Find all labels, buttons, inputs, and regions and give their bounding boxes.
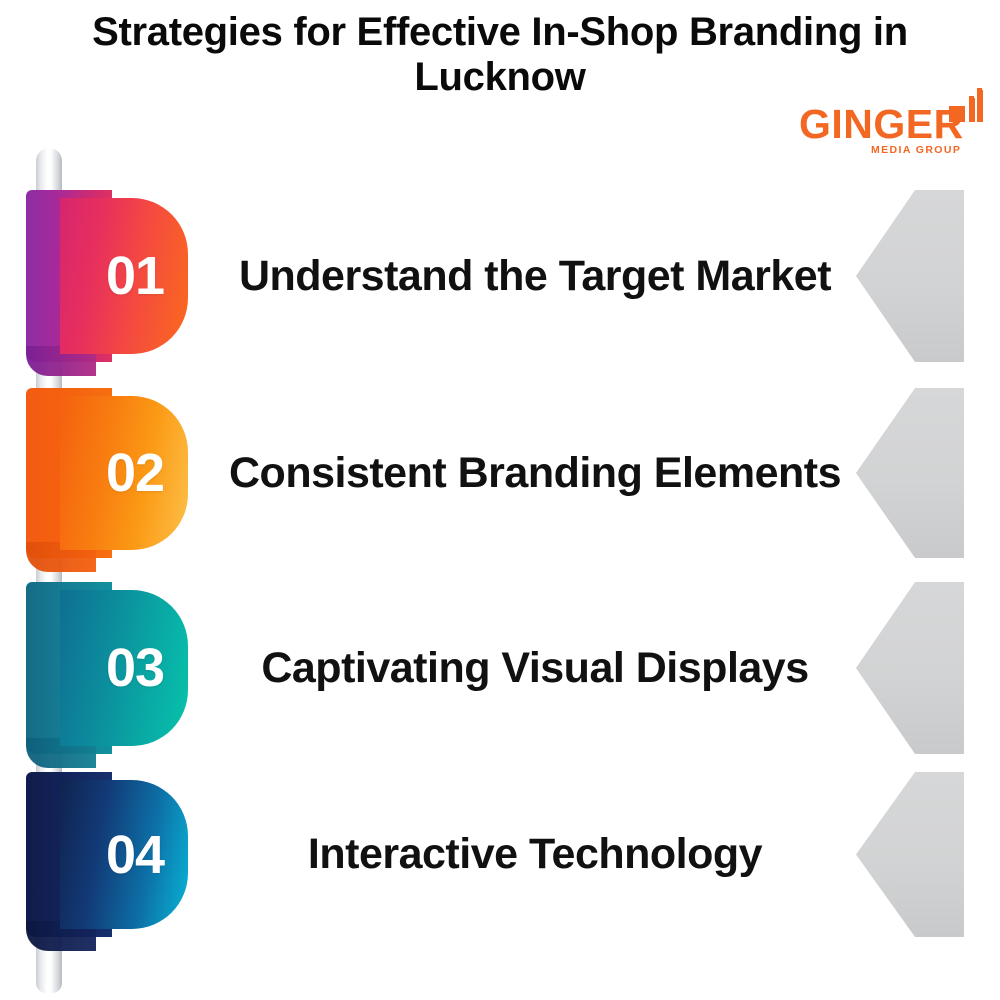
infographic-page: Strategies for Effective In-Shop Brandin…: [0, 0, 1000, 1000]
step-label-1: Understand the Target Market: [205, 190, 865, 362]
step-row-3[interactable]: 03 Captivating Visual Displays: [0, 582, 1000, 754]
step-badge-4: 04: [60, 780, 188, 929]
step-badge-2: 02: [60, 396, 188, 550]
step-number-2: 02: [106, 446, 164, 500]
step-number-4: 04: [106, 828, 164, 882]
step-label-3: Captivating Visual Displays: [205, 582, 865, 754]
step-number-1: 01: [106, 249, 164, 303]
step-number-3: 03: [106, 641, 164, 695]
step-row-2[interactable]: 02 Consistent Branding Elements: [0, 388, 1000, 558]
page-title: Strategies for Effective In-Shop Brandin…: [8, 10, 992, 100]
step-label-4: Interactive Technology: [205, 772, 865, 937]
billboard-signal-icon: [947, 88, 989, 128]
ginger-media-group-logo: GINGER MEDIA GROUP: [795, 88, 990, 166]
logo-tagline: MEDIA GROUP: [871, 145, 961, 156]
step-row-1[interactable]: 01 Understand the Target Market: [0, 190, 1000, 362]
step-label-2: Consistent Branding Elements: [205, 388, 865, 558]
logo-wordmark: GINGER: [799, 104, 964, 145]
step-row-4[interactable]: 04 Interactive Technology: [0, 772, 1000, 937]
header: Strategies for Effective In-Shop Brandin…: [0, 0, 1000, 175]
step-badge-1: 01: [60, 198, 188, 354]
step-badge-3: 03: [60, 590, 188, 746]
